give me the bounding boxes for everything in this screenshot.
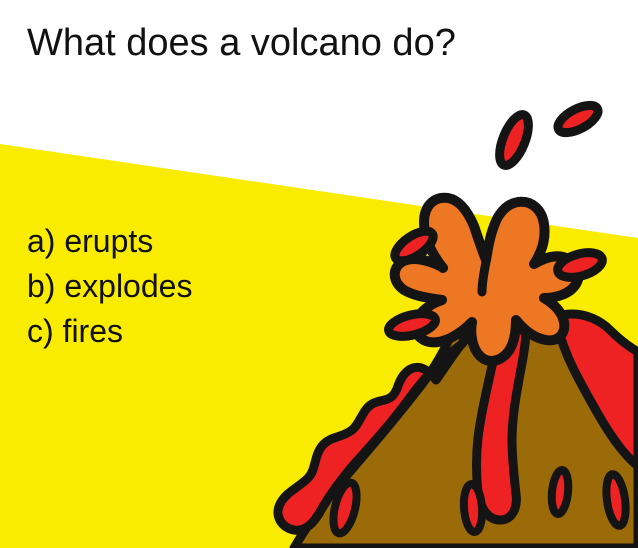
answer-option-b[interactable]: b) explodes (27, 267, 192, 305)
answer-option-c[interactable]: c) fires (27, 312, 123, 350)
page-title: What does a volcano do? (27, 21, 456, 65)
slide-text-layer: What does a volcano do? a) erupts b) exp… (0, 0, 638, 548)
answer-option-a[interactable]: a) erupts (27, 222, 153, 260)
quiz-slide: What does a volcano do? a) erupts b) exp… (0, 0, 638, 548)
